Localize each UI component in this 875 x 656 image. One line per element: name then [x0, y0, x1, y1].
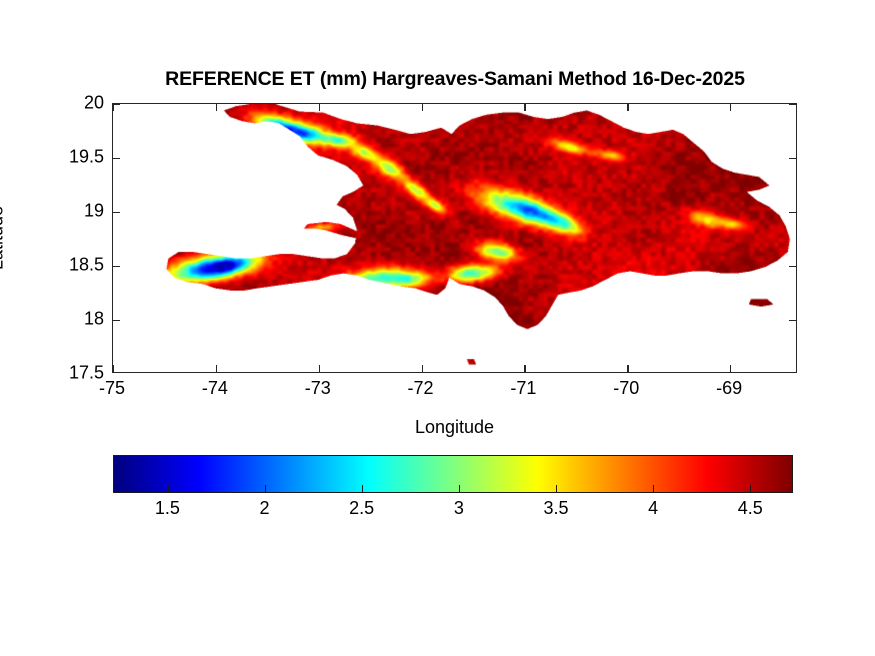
x-tick: [524, 365, 525, 372]
y-tick-label: 19.5: [69, 147, 104, 168]
colorbar-tick: [653, 485, 654, 492]
y-tick: [789, 212, 796, 213]
colorbar-tick-label: 3: [454, 498, 464, 519]
y-tick-label: 17.5: [69, 363, 104, 384]
x-tick-label: -70: [613, 378, 639, 399]
colorbar-tick-label: 2.5: [349, 498, 374, 519]
colorbar-tick-label: 3.5: [543, 498, 568, 519]
x-tick: [113, 365, 114, 372]
y-tick: [789, 158, 796, 159]
x-tick: [319, 365, 320, 372]
page-title: REFERENCE ET (mm) Hargreaves-Samani Meth…: [112, 68, 798, 91]
colorbar-tick: [265, 485, 266, 492]
y-tick: [113, 158, 120, 159]
x-tick: [627, 104, 628, 111]
colorbar-tick-label: 1.5: [155, 498, 180, 519]
x-tick: [422, 365, 423, 372]
colorbar-tick-label: 4.5: [738, 498, 763, 519]
colorbar-gradient: [113, 455, 793, 493]
x-tick-label: -71: [510, 378, 536, 399]
x-tick-label: -69: [716, 378, 742, 399]
colorbar-tick: [167, 485, 168, 492]
x-tick: [627, 365, 628, 372]
colorbar-tick: [459, 485, 460, 492]
y-tick: [113, 266, 120, 267]
y-tick-label: 18: [84, 309, 104, 330]
x-tick: [319, 104, 320, 111]
x-tick: [216, 104, 217, 111]
reference-et-heatmap: [113, 104, 796, 372]
colorbar-tick: [556, 485, 557, 492]
y-axis-label: Latitude: [0, 206, 8, 270]
y-tick: [789, 104, 796, 105]
colorbar-tick: [750, 485, 751, 492]
x-tick: [730, 365, 731, 372]
y-tick-label: 20: [84, 93, 104, 114]
y-tick: [113, 212, 120, 213]
x-tick: [422, 104, 423, 111]
map-axes[interactable]: [112, 103, 797, 373]
y-tick: [113, 320, 120, 321]
x-tick-label: -74: [202, 378, 228, 399]
x-tick-label: -72: [408, 378, 434, 399]
colorbar-tick: [362, 485, 363, 492]
x-tick-label: -73: [305, 378, 331, 399]
matlab-figure-window: REFERENCE ET (mm) Hargreaves-Samani Meth…: [0, 0, 875, 656]
y-tick: [789, 266, 796, 267]
y-tick: [113, 104, 120, 105]
colorbar[interactable]: [113, 455, 793, 493]
x-tick: [730, 104, 731, 111]
colorbar-tick-label: 4: [648, 498, 658, 519]
y-tick-label: 18.5: [69, 255, 104, 276]
x-tick: [216, 365, 217, 372]
x-tick: [524, 104, 525, 111]
x-axis-label: Longitude: [112, 417, 797, 438]
y-tick-label: 19: [84, 201, 104, 222]
y-tick: [789, 320, 796, 321]
colorbar-tick-label: 2: [260, 498, 270, 519]
